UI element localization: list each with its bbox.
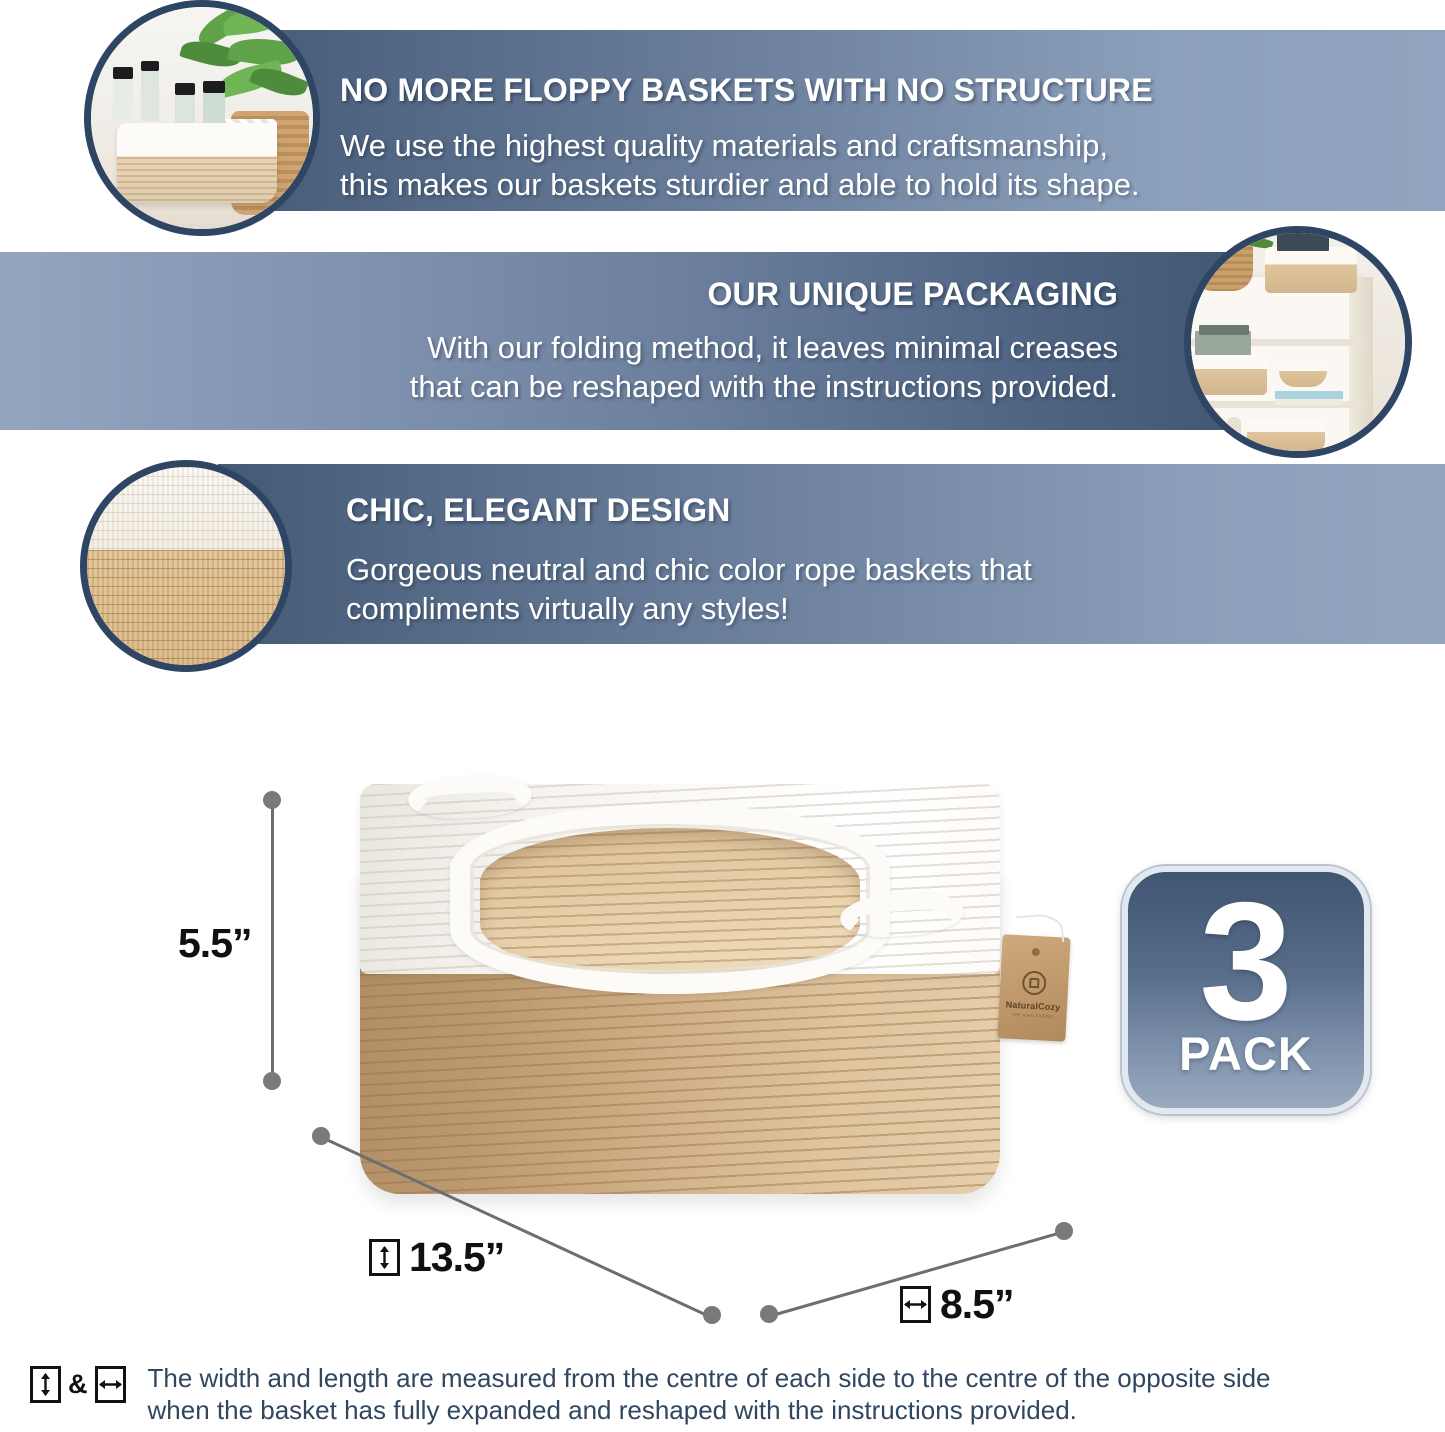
tag-string [1016,912,1064,946]
pack-count-number: 3 [1199,893,1292,1031]
dimension-dot-length-start [312,1127,330,1145]
dimension-dot-height-top [263,791,281,809]
banner-body-no-structure: We use the highest quality materials and… [340,126,1140,204]
dimension-dot-width-end [1055,1222,1073,1240]
dimension-dot-height-bottom [263,1072,281,1090]
banner-image-rope-texture [80,460,292,672]
horizontal-arrow-icon [900,1286,931,1323]
infographic-page: NO MORE FLOPPY BASKETS WITH NO STRUCTURE… [0,0,1445,1432]
tag-hole [1032,948,1040,956]
dimension-value-width: 8.5” [940,1281,1014,1328]
dimension-value-length: 13.5” [409,1234,504,1281]
feature-banner-unique-packaging: OUR UNIQUE PACKAGING With our folding me… [0,252,1268,430]
banner-image-shelf [1184,226,1412,458]
ampersand-separator: & [68,1369,88,1400]
dimension-label-width: 8.5” [900,1281,1014,1328]
banner-heading-chic-design: CHIC, ELEGANT DESIGN [346,492,730,529]
measurement-note-icons: & [30,1366,126,1403]
dimension-dot-width-start [760,1305,778,1323]
banner-body-unique-packaging: With our folding method, it leaves minim… [410,328,1118,406]
tag-brand-name: NaturalCozy [1005,1000,1060,1013]
dimension-dot-length-end [703,1306,721,1324]
measurement-note-text: The width and length are measured from t… [148,1362,1271,1426]
dimension-label-height: 5.5” [178,920,252,967]
banner-heading-no-structure: NO MORE FLOPPY BASKETS WITH NO STRUCTURE [340,72,1153,109]
vertical-arrow-icon [369,1239,400,1276]
hang-tag: NaturalCozy THE KIND FRIEND [997,934,1070,1041]
dimension-line-height [271,806,274,1080]
banner-image-bathroom [84,0,320,236]
banner-heading-unique-packaging: OUR UNIQUE PACKAGING [707,276,1118,313]
pack-count-badge: 3 PACK [1122,866,1370,1114]
basket-rim [450,804,890,994]
vertical-arrow-icon [30,1366,61,1403]
feature-banner-chic-design: CHIC, ELEGANT DESIGN Gorgeous neutral an… [218,464,1445,644]
pack-count-word: PACK [1179,1026,1313,1081]
product-photo-basket: NaturalCozy THE KIND FRIEND [300,768,1060,1238]
dimension-label-length: 13.5” [369,1234,504,1281]
feature-banner-no-structure: NO MORE FLOPPY BASKETS WITH NO STRUCTURE… [172,30,1445,211]
house-heart-icon [1022,970,1047,995]
tag-tagline: THE KIND FRIEND [1012,1012,1053,1019]
dimension-value-height: 5.5” [178,920,252,967]
horizontal-arrow-icon [95,1366,126,1403]
banner-body-chic-design: Gorgeous neutral and chic color rope bas… [346,550,1032,628]
measurement-note: & The width and length are measured from… [0,1360,1445,1432]
